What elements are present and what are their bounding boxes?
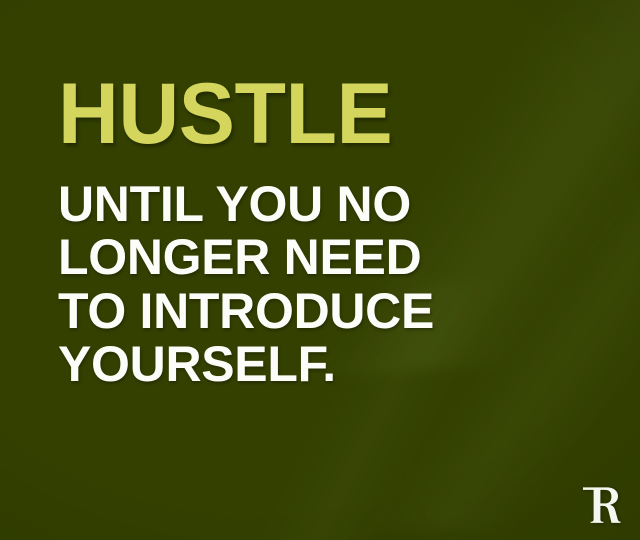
quote-body-line-3: TO INTRODUCE: [58, 285, 578, 339]
quote-card: HUSTLE UNTIL YOU NO LONGER NEED TO INTRO…: [0, 0, 640, 540]
quote-body-line-4: YOURSELF.: [58, 338, 578, 392]
quote-headline: HUSTLE: [58, 78, 568, 152]
quote-block: HUSTLE UNTIL YOU NO LONGER NEED TO INTRO…: [58, 78, 578, 392]
quote-body-line-1: UNTIL YOU NO: [58, 178, 578, 232]
quote-body-line-2: LONGER NEED: [58, 231, 578, 285]
quote-body: UNTIL YOU NO LONGER NEED TO INTRODUCE YO…: [58, 178, 578, 392]
brand-logo-r-icon: R: [580, 478, 624, 526]
